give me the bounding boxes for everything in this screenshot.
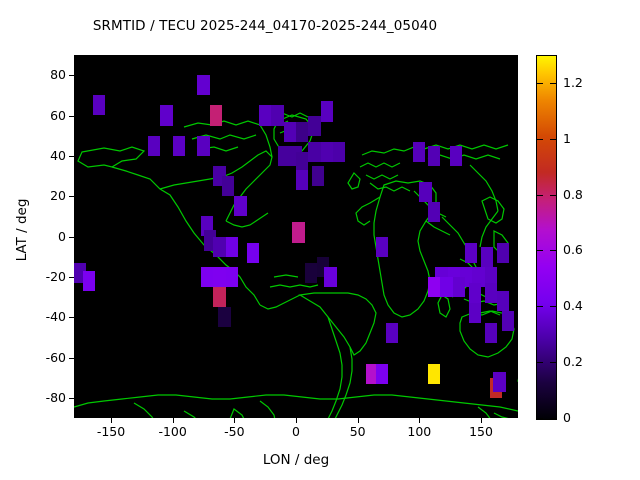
data-cell bbox=[481, 247, 493, 267]
map-plot-area[interactable] bbox=[74, 55, 518, 418]
data-cell bbox=[296, 170, 308, 190]
x-axis-tick bbox=[358, 418, 359, 423]
data-cell bbox=[497, 243, 509, 263]
colorbar-tick bbox=[550, 195, 556, 196]
data-cell bbox=[197, 75, 209, 95]
data-cell bbox=[324, 267, 336, 287]
data-cell bbox=[305, 263, 317, 283]
data-cell bbox=[502, 311, 514, 331]
y-axis-tick-label: -80 bbox=[14, 390, 66, 405]
data-cell bbox=[450, 146, 462, 166]
colorbar-tick bbox=[537, 83, 543, 84]
colorbar-tick bbox=[537, 250, 543, 251]
data-cell bbox=[213, 237, 225, 257]
y-axis-tick-label: -60 bbox=[14, 350, 66, 365]
data-cell bbox=[173, 136, 185, 156]
y-axis-tick-label: 0 bbox=[14, 229, 66, 244]
colorbar-tick bbox=[537, 418, 543, 419]
x-axis-tick bbox=[234, 418, 235, 423]
x-axis-tick bbox=[419, 418, 420, 423]
data-cell bbox=[485, 283, 497, 303]
colorbar-tick bbox=[537, 195, 543, 196]
colorbar-tick bbox=[550, 139, 556, 140]
x-axis-tick bbox=[111, 418, 112, 423]
data-cell bbox=[148, 136, 160, 156]
data-cell bbox=[222, 176, 234, 196]
data-cell bbox=[428, 146, 440, 166]
colorbar-tick-label: 0.2 bbox=[563, 354, 613, 369]
data-cell bbox=[321, 142, 333, 162]
y-axis-tick-label: -20 bbox=[14, 269, 66, 284]
data-cell bbox=[213, 267, 225, 287]
y-axis-tick bbox=[69, 317, 74, 318]
data-cell bbox=[493, 372, 505, 392]
y-axis-tick bbox=[69, 358, 74, 359]
data-cell bbox=[271, 105, 283, 125]
figure-canvas: SRMTID / TECU 2025-244_04170-2025-244_05… bbox=[0, 0, 640, 480]
colorbar-tick bbox=[537, 139, 543, 140]
data-cell bbox=[93, 95, 105, 115]
data-cell bbox=[259, 105, 271, 125]
data-cell bbox=[497, 291, 509, 311]
data-cell bbox=[201, 267, 213, 287]
data-cell bbox=[453, 277, 465, 297]
data-cell bbox=[226, 267, 238, 287]
data-cell bbox=[485, 323, 497, 343]
x-axis-tick-label: 100 bbox=[389, 424, 449, 439]
data-cell bbox=[321, 101, 333, 121]
data-cell bbox=[440, 277, 452, 297]
colorbar-tick bbox=[550, 362, 556, 363]
data-cell bbox=[213, 287, 225, 307]
data-cell bbox=[386, 323, 398, 343]
colorbar-tick bbox=[550, 306, 556, 307]
data-cells-layer bbox=[74, 55, 518, 418]
colorbar-tick bbox=[550, 418, 556, 419]
data-cell bbox=[428, 277, 440, 297]
data-cell bbox=[218, 307, 230, 327]
data-cell bbox=[234, 196, 246, 216]
data-cell bbox=[278, 146, 290, 166]
y-axis-tick bbox=[69, 156, 74, 157]
data-cell bbox=[247, 243, 259, 263]
y-axis-tick bbox=[69, 237, 74, 238]
x-axis-tick-label: 150 bbox=[451, 424, 511, 439]
y-axis-tick bbox=[69, 196, 74, 197]
y-axis-tick-label: 80 bbox=[14, 67, 66, 82]
x-axis-tick-label: -50 bbox=[204, 424, 264, 439]
data-cell bbox=[308, 142, 320, 162]
y-axis-tick bbox=[69, 398, 74, 399]
data-cell bbox=[292, 222, 304, 242]
colorbar-tick-label: 0.8 bbox=[563, 187, 613, 202]
data-cell bbox=[469, 303, 481, 323]
data-cell bbox=[312, 166, 324, 186]
data-cell bbox=[308, 116, 320, 136]
colorbar-gradient bbox=[537, 56, 556, 419]
data-cell bbox=[376, 237, 388, 257]
data-cell bbox=[428, 364, 440, 384]
colorbar[interactable] bbox=[536, 55, 557, 420]
data-cell bbox=[197, 136, 209, 156]
colorbar-tick bbox=[550, 83, 556, 84]
data-cell bbox=[284, 122, 296, 142]
y-axis-tick-label: 20 bbox=[14, 188, 66, 203]
data-cell bbox=[210, 105, 222, 125]
colorbar-tick-label: 0.6 bbox=[563, 242, 613, 257]
data-cell bbox=[160, 105, 172, 125]
colorbar-tick bbox=[550, 250, 556, 251]
x-axis-tick bbox=[173, 418, 174, 423]
x-axis-tick-label: -100 bbox=[143, 424, 203, 439]
y-axis-tick-label: 40 bbox=[14, 148, 66, 163]
x-axis-label: LON / deg bbox=[74, 452, 518, 468]
colorbar-tick-label: 0.4 bbox=[563, 298, 613, 313]
y-axis-tick bbox=[69, 75, 74, 76]
chart-title: SRMTID / TECU 2025-244_04170-2025-244_05… bbox=[0, 18, 530, 34]
data-cell bbox=[226, 237, 238, 257]
data-cell bbox=[376, 364, 388, 384]
colorbar-tick bbox=[537, 362, 543, 363]
data-cell bbox=[465, 243, 477, 263]
y-axis-tick-label: 60 bbox=[14, 108, 66, 123]
data-cell bbox=[296, 152, 308, 172]
data-cell bbox=[83, 271, 95, 291]
data-cell bbox=[428, 202, 440, 222]
data-cell bbox=[419, 182, 431, 202]
data-cell bbox=[296, 122, 308, 142]
x-axis-tick-label: 50 bbox=[328, 424, 388, 439]
y-axis-tick bbox=[69, 277, 74, 278]
data-cell bbox=[333, 142, 345, 162]
y-axis-tick-label: -40 bbox=[14, 309, 66, 324]
y-axis-tick bbox=[69, 116, 74, 117]
colorbar-tick-label: 0 bbox=[563, 410, 613, 425]
colorbar-tick bbox=[537, 306, 543, 307]
x-axis-tick-label: 0 bbox=[266, 424, 326, 439]
x-axis-tick bbox=[481, 418, 482, 423]
x-axis-tick bbox=[296, 418, 297, 423]
colorbar-tick-label: 1.2 bbox=[563, 75, 613, 90]
data-cell bbox=[413, 142, 425, 162]
colorbar-tick-label: 1 bbox=[563, 131, 613, 146]
data-cell bbox=[469, 283, 481, 303]
x-axis-tick-label: -150 bbox=[81, 424, 141, 439]
